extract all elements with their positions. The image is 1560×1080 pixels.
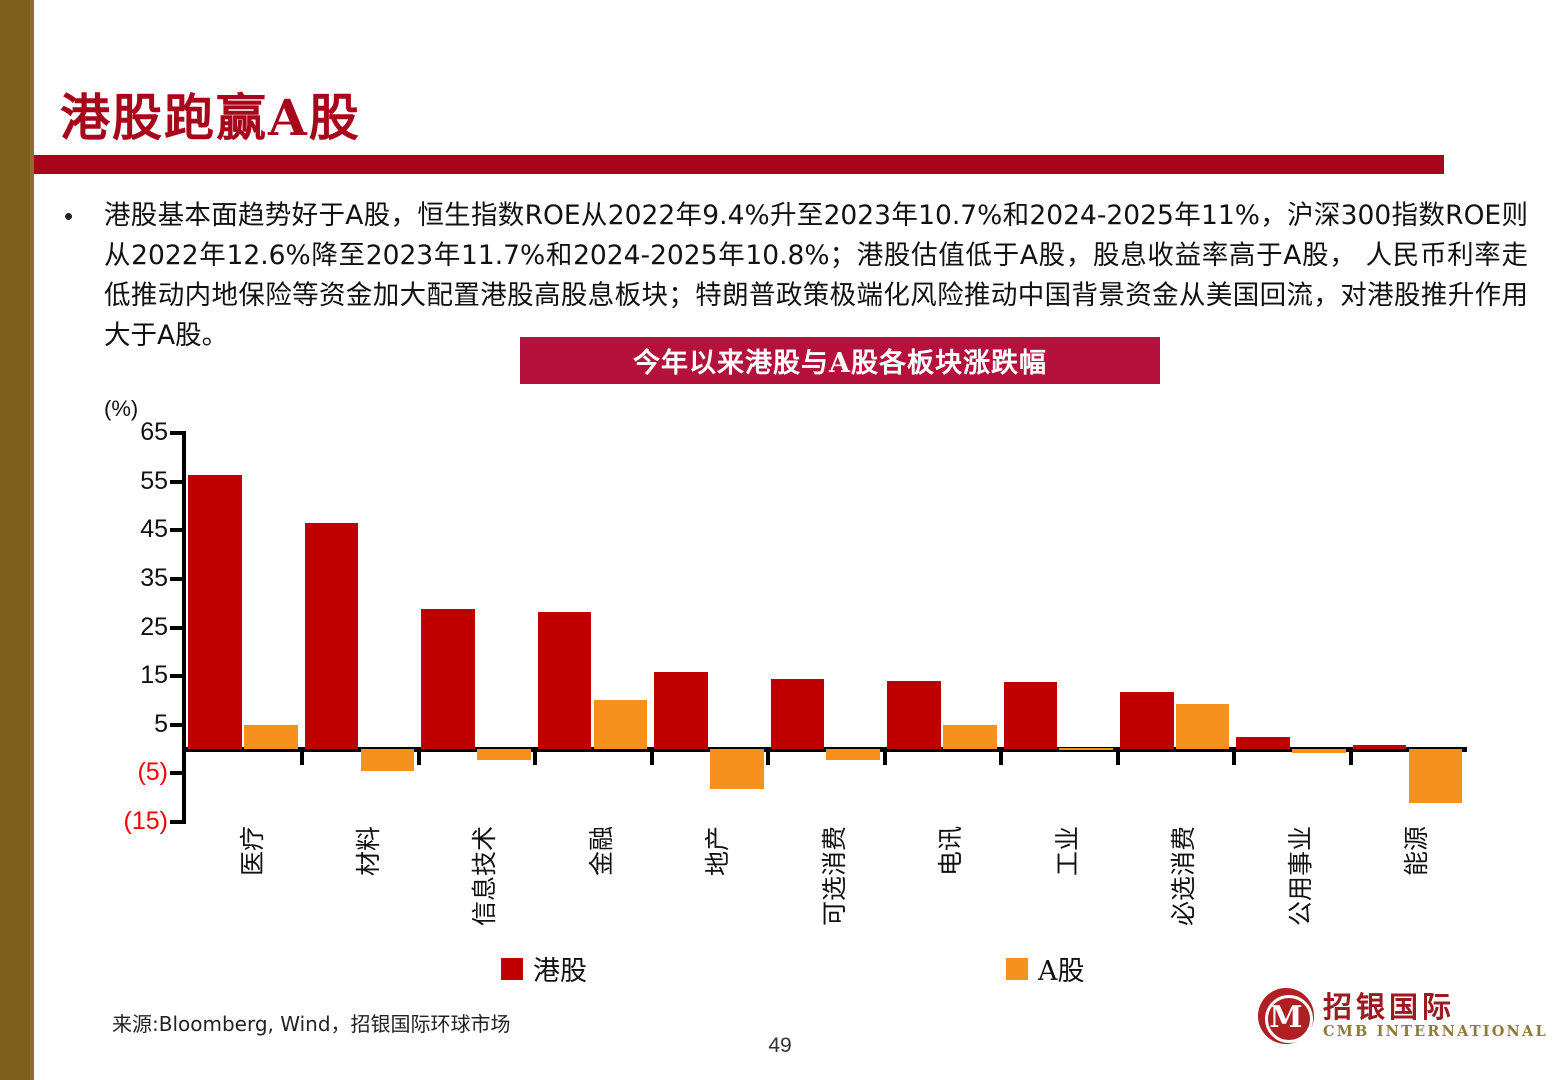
logo-monogram: M: [1269, 1003, 1302, 1033]
legend-swatch-icon: [501, 958, 523, 980]
bar-group: [1351, 433, 1467, 822]
bar-hk: [1004, 682, 1058, 749]
slide-root: 港股跑赢A股 • 港股基本面趋势好于A股，恒生指数ROE从2022年9.4%升至…: [0, 0, 1560, 1080]
y-tick-mark: [170, 626, 184, 630]
bar-group: [535, 433, 651, 822]
page-title: 港股跑赢A股: [60, 78, 361, 150]
x-category-label: 能源: [1397, 826, 1433, 876]
bar-a: [943, 725, 997, 749]
bar-a: [477, 749, 531, 760]
y-tick-label: 5: [96, 710, 168, 739]
bar-a: [1059, 748, 1113, 750]
x-category-label: 可选消费: [815, 826, 851, 926]
y-tick-label: 55: [96, 467, 168, 496]
y-tick-mark: [170, 674, 184, 678]
bar-hk: [421, 609, 475, 749]
y-tick-label: 25: [96, 613, 168, 642]
x-category-label: 公用事业: [1281, 826, 1317, 926]
chart-title-banner: 今年以来港股与A股各板块涨跌幅: [520, 337, 1160, 384]
bar-group: [419, 433, 535, 822]
bar-a: [244, 725, 298, 749]
legend-label: 港股: [533, 949, 587, 988]
x-category-label: 材料: [349, 826, 385, 876]
legend-label: A股: [1038, 949, 1085, 988]
bar-group: [1234, 433, 1350, 822]
logo-chinese-name: 招银国际: [1323, 992, 1548, 1022]
x-category-label: 必选消费: [1164, 826, 1200, 926]
bar-a: [361, 749, 415, 771]
bullet-body-text: 港股基本面趋势好于A股，恒生指数ROE从2022年9.4%升至2023年10.7…: [104, 196, 1528, 356]
bullet-marker: •: [58, 196, 104, 236]
legend-swatch-icon: [1006, 958, 1028, 980]
y-tick-mark: [170, 771, 184, 775]
bar-group: [652, 433, 768, 822]
y-tick-label: 45: [96, 515, 168, 544]
title-underline-rule: [34, 155, 1444, 174]
chart-title-text: 今年以来港股与A股各板块涨跌幅: [633, 341, 1047, 380]
bar-hk: [654, 672, 708, 749]
bar-group: [768, 433, 884, 822]
y-tick-mark: [170, 577, 184, 581]
bar-hk: [1120, 692, 1174, 749]
bar-hk: [305, 523, 359, 749]
logo-mark-icon: M: [1258, 988, 1314, 1044]
y-tick-label: 35: [96, 564, 168, 593]
x-category-label: 电讯: [931, 826, 967, 876]
y-tick-mark: [170, 528, 184, 532]
y-tick-mark: [170, 480, 184, 484]
x-category-label: 工业: [1048, 826, 1084, 876]
x-category-label: 医疗: [233, 826, 269, 876]
y-tick-label: 65: [96, 418, 168, 447]
bar-group: [302, 433, 418, 822]
x-category-label: 信息技术: [465, 826, 501, 926]
bar-chart: (%) 6555453525155(5)(15) 医疗材料信息技术金融地产可选消…: [96, 396, 1476, 846]
y-tick-label: (5): [96, 758, 168, 787]
legend-item[interactable]: 港股: [501, 949, 587, 988]
bar-group: [885, 433, 1001, 822]
bar-a: [1409, 749, 1463, 802]
logo-english-name: CMB INTERNATIONAL: [1323, 1023, 1548, 1040]
left-accent-bar: [0, 0, 30, 1080]
y-tick-mark: [170, 431, 186, 435]
logo-wordmark: 招银国际 CMB INTERNATIONAL: [1323, 992, 1548, 1040]
y-tick-mark: [170, 820, 186, 824]
y-tick-label: (15): [96, 807, 168, 836]
y-axis-labels: 6555453525155(5)(15): [96, 396, 168, 846]
bar-a: [594, 700, 648, 749]
bar-hk: [188, 475, 242, 749]
bar-a: [710, 749, 764, 789]
y-tick-label: 15: [96, 661, 168, 690]
source-note: 来源:Bloomberg, Wind，招银国际环球市场: [112, 1008, 511, 1037]
x-category-label: 地产: [698, 826, 734, 876]
bar-group: [1001, 433, 1117, 822]
cmb-international-logo: M 招银国际 CMB INTERNATIONAL: [1258, 988, 1548, 1044]
bar-group: [1118, 433, 1234, 822]
y-tick-mark: [170, 723, 184, 727]
bullet-paragraph: • 港股基本面趋势好于A股，恒生指数ROE从2022年9.4%升至2023年10…: [58, 196, 1528, 356]
bar-hk: [538, 612, 592, 749]
bar-hk: [887, 681, 941, 749]
bar-a: [826, 749, 880, 760]
bar-hk: [1236, 737, 1290, 749]
bar-a: [1176, 704, 1230, 749]
bar-hk: [771, 679, 825, 749]
legend-item[interactable]: A股: [1006, 949, 1085, 988]
x-category-label: 金融: [582, 826, 618, 876]
x-axis-category-labels: 医疗材料信息技术金融地产可选消费电讯工业必选消费公用事业能源: [186, 826, 1467, 986]
bar-group: [186, 433, 302, 822]
plot-area: [186, 433, 1467, 822]
bar-hk: [1353, 745, 1407, 749]
bar-a: [1292, 749, 1346, 753]
